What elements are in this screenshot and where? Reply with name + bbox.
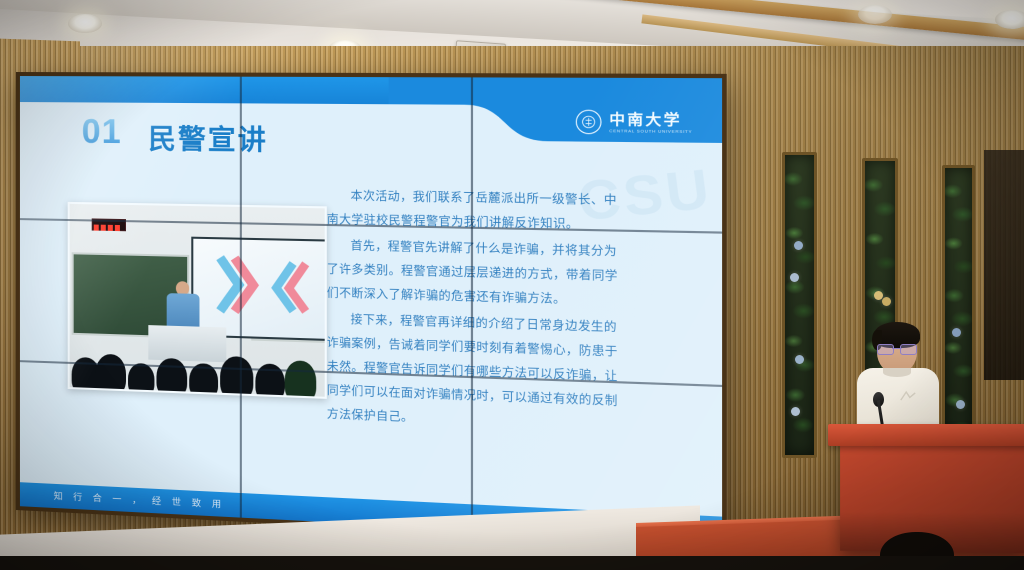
slide-body-text: 本次活动，我们联系了岳麓派出所一级警长、中南大学驻校民警程警官为我们讲解反诈知识… (327, 185, 629, 441)
projection-graphic (193, 239, 322, 335)
tshirt-graphic (899, 390, 917, 403)
tile-seam-vertical (240, 77, 242, 518)
student-head (96, 354, 126, 396)
slide-section-number: 01 (82, 112, 122, 152)
student-head (128, 363, 154, 396)
tile-seam-vertical (471, 77, 473, 529)
downlight-icon (858, 5, 892, 24)
csu-seal-glyph (581, 115, 596, 129)
police-officer-figure (167, 281, 200, 331)
presenter-collar (883, 368, 911, 377)
plant-niche-icon (782, 152, 817, 458)
student-head (220, 356, 253, 399)
video-wall-frame: 01 民警宣讲 中南大学 CENTRAL SOUTH UNIVERSITY CS (16, 72, 727, 547)
video-wall-screen[interactable]: 01 民警宣讲 中南大学 CENTRAL SOUTH UNIVERSITY CS (20, 76, 722, 543)
slide-title: 民警宣讲 (148, 117, 268, 158)
downlight-icon (68, 14, 102, 33)
university-name-cn: 中南大学 (609, 111, 692, 127)
student-head (285, 360, 317, 399)
glasses-icon (877, 344, 917, 353)
slide-paragraph: 首先，程警官先讲解了什么是诈骗，并将其分为了许多类别。程警官通过层层递进的方式，… (327, 234, 629, 314)
screenshot-root: 01 民警宣讲 中南大学 CENTRAL SOUTH UNIVERSITY CS (0, 0, 1024, 570)
plant-niche-icon (942, 165, 975, 461)
university-motto: 知 行 合 一 ， 经 世 致 用 (54, 489, 226, 511)
projection-screen (191, 237, 327, 341)
university-logo: 中南大学 CENTRAL SOUTH UNIVERSITY (576, 110, 693, 136)
downlight-icon (995, 10, 1024, 29)
podium-top-surface (828, 424, 1024, 446)
csu-seal-icon (576, 110, 602, 135)
university-name-en: CENTRAL SOUTH UNIVERSITY (609, 129, 692, 134)
student-head (156, 358, 187, 398)
wall-dark-recess (984, 150, 1024, 380)
presentation-slide: 01 民警宣讲 中南大学 CENTRAL SOUTH UNIVERSITY CS (20, 76, 722, 543)
foreground-shadow (0, 556, 1024, 570)
